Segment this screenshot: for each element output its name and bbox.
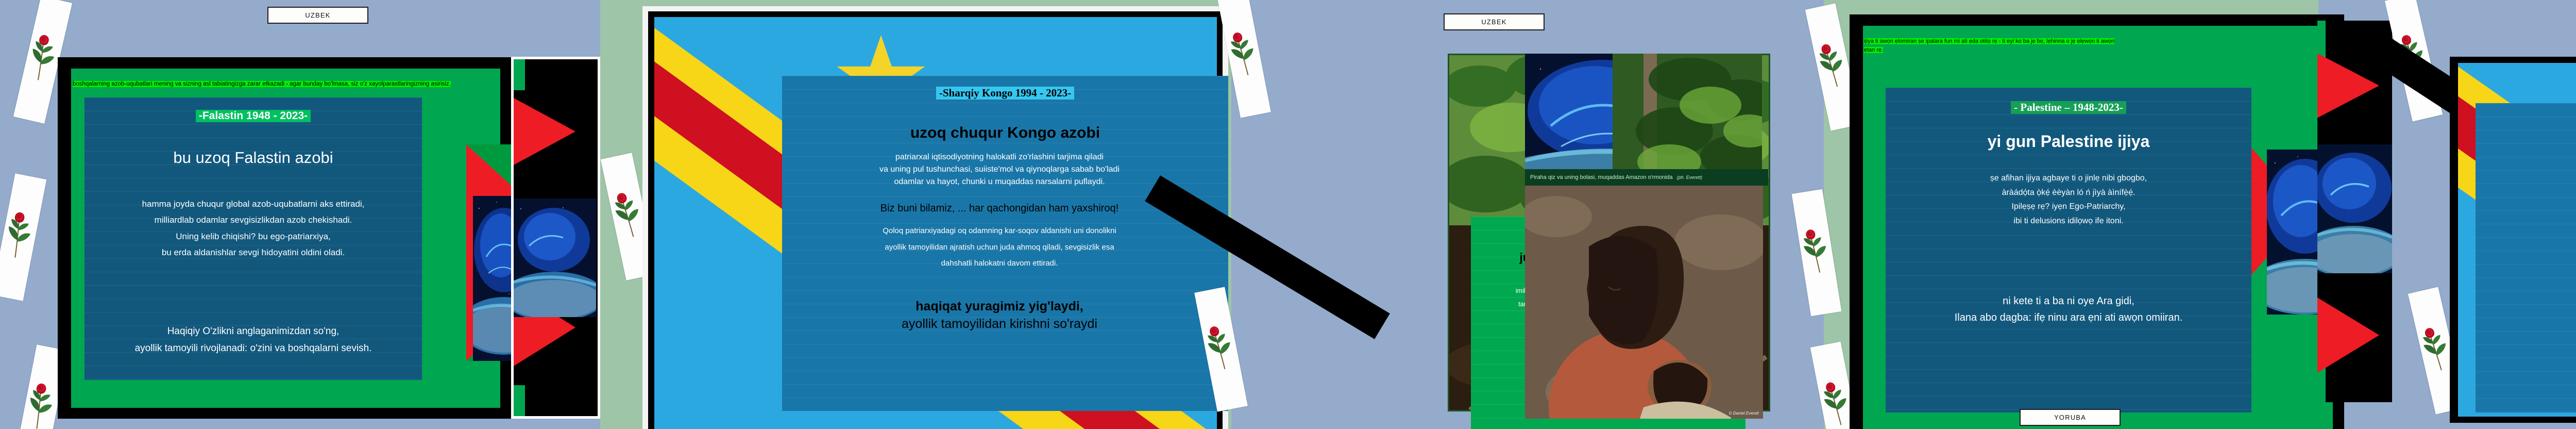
closing-line: okan wa otito nsokun, [2470,335,2576,353]
body-line: aini ifẹ n tẹsiwaju iparun ẹru rẹ. [2470,293,2576,307]
title-band-4: - Palestine – 1948-2023- [1886,101,2251,114]
photo-caption-3: Piraha qiz va uning bolasi, muqaddas Ama… [1525,169,1768,186]
midline-5: A mọ pe, ... dara ju lailai ṣaaju ki o t… [2470,246,2576,258]
palestine-flag-art-2 [511,57,600,419]
body-line: oniwe-ero ti owo okunfa, abusing ati tor… [2470,213,2576,226]
language-tag-yoruba-4[interactable]: YORUBA [2020,409,2121,426]
language-tag-label: UZBEK [305,11,330,19]
headline-2: uzoq chuqur Kongo azobi [782,124,1228,142]
language-tag-uzbek-1[interactable]: UZBEK [267,7,368,24]
title-band-1: -Falastin 1948 - 2023- [84,110,422,122]
forest-photo-3 [1613,54,1762,183]
language-tag-uzbek-3[interactable]: UZBEK [1444,13,1545,30]
body-line: Ipilẹṣẹ rẹ? iyẹn Ego-Patriarchy, [1880,200,2257,214]
closing-line: ayollik tamoyili rivojlanadi: o'zini va … [84,340,422,357]
body-line: patriarxal iqtisodiyotning halokatli zo'… [768,151,1231,163]
body-block-5: tumọ ifipabanilopo apanirun ti ọrọ-aje b… [2470,201,2576,238]
body-line: bu erda aldanishlar sevgi hidoyatini old… [84,244,422,260]
body-line: ayollik tamoyilidan ajratish uchun juda … [768,239,1231,256]
closing-block-5: okan wa otito nsokun, ṣagbe fun igbewọle… [2470,335,2576,370]
body-block-4: ṣe afihan ijiya agbaye ti o jinlẹ nibi g… [1880,171,2257,228]
headline-1: bu uzoq Falastin azobi [84,148,422,167]
body-line: Adití-didi ìtannijẹ ti eniyan funfun ni … [2470,264,2576,278]
body-line: Uning kelib chiqishi? bu ego-patriarxiya… [84,228,422,244]
mother-and-child-image [1525,186,1763,419]
palestine-flag-art-5 [2317,21,2392,402]
photo-signature: © Daniel Everett [1729,411,1759,416]
language-tag-label: YORUBA [2054,414,2086,421]
body-line: tumọ ifipabanilopo apanirun ti ọrọ-aje b… [2470,201,2576,213]
closing-line: Haqiqiy O'zlikni anglaganimizdan so'ng, [84,323,422,340]
title-band-2: -Sharqiy Kongo 1994 - 2023- [782,87,1228,100]
banner-text-4: ijiya ti awọn ẹlomiran ṣe ipalara fun mi… [1864,37,2122,55]
closing-block-2: haqiqat yuragimiz yig'laydi, ayollik tam… [768,298,1231,333]
body-block-1: hamma joyda chuqur global azob-uqubatlar… [84,196,422,261]
body2-block-2: Qoloq patriarxiyadagi oq odamning kar-so… [768,223,1231,272]
closing-block-1: Haqiqiy O'zlikni anglaganimizdan so'ng, … [84,323,422,357]
body-line: niwon o ti wa ni fifun kuro ni mimọ. [2470,226,2576,238]
caption-text: Piraha qiz va uning bolasi, muqaddas Ama… [1530,174,1673,180]
body-line: ṣe afihan ijiya agbaye ti o jinlẹ nibi g… [1880,171,2257,186]
closing-block-4: ni kete ti a ba ni oye Ara gidi, Ilana a… [1875,293,2262,326]
body-line: dahshatli halokatni davom ettiradi. [768,255,1231,272]
closing-line: ni kete ti a ba ni oye Ara gidi, [1875,293,2262,309]
headline-5: gun jin Congo-ijiya [2476,148,2576,168]
body-line: milliardlab odamlar sevgisizlikdan azob … [84,212,422,228]
closing-line: ayollik tamoyilidan kirishni so'raydi [768,316,1231,333]
body-line: àràádọ́ta ọ̀kẹ́ èèyàn ló ń jìyà àìnífẹ̀ẹ… [1880,186,2257,200]
body-line: ki o jẹ aimọgbọnwa pupọ lati mọ ọgbọn la… [2470,278,2576,293]
body2-block-5: Adití-didi ìtannijẹ ti eniyan funfun ni … [2470,264,2576,307]
body-line: ibi ti delusions idilọwọ ife itoni. [1880,214,2257,228]
earth-globe-icon [2317,144,2392,273]
closing-line: haqiqat yuragimiz yig'laydi, [768,298,1231,316]
language-tag-label: UZBEK [1481,18,1506,26]
caption-credit: (ph. Everett) [1677,175,1703,180]
earth-globe-icon [514,199,596,317]
closing-line: Ilana abo dagba: ifẹ ninu ara ẹni ati aw… [1875,309,2262,326]
headline-4: yi gun Palestine ijiya [1886,132,2251,151]
pirahã-mother-photo-3: © Daniel Everett [1525,186,1763,419]
slide-strip: UZBEK boshqalarning azob-uqubatlari meni… [0,0,2576,429]
body-line: Qoloq patriarxiyadagi oq odamning kar-so… [768,223,1231,239]
banner-text-1: boshqalarning azob-uqubatlari mening va … [73,80,453,89]
body-line: va uning pul tushunchasi, suiiste'mol va… [768,163,1231,176]
closing-line: ṣagbe fun igbewọle lati ilana abo. [2470,353,2576,370]
forest-image [1613,54,1762,183]
body-line: hamma joyda chuqur global azob-uqubatlar… [84,196,422,212]
title-band-5: -Ilaorun Congo - 1994 - 2023- [2476,114,2576,127]
